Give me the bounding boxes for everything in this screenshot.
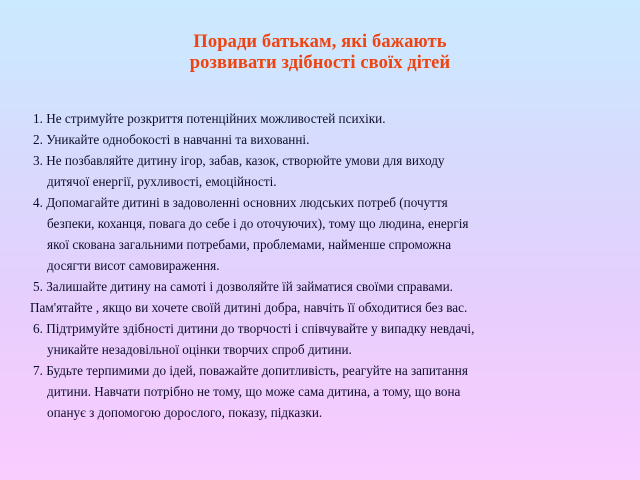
tip-continuation-line: дитини. Навчати потрібно не тому, що мож… bbox=[0, 381, 640, 402]
slide-title-line-2: розвивати здібності своїх дітей bbox=[0, 53, 640, 74]
tip-item-line: 4. Допомагайте дитині в задоволенні осно… bbox=[0, 192, 640, 213]
slide-title-line-1: Поради батькам, які бажають bbox=[0, 32, 640, 53]
tip-continuation-line: досягти висот самовираження. bbox=[0, 255, 640, 276]
tip-continuation-line: якої скована загальними потребами, пробл… bbox=[0, 234, 640, 255]
presentation-slide: Поради батькам, які бажають розвивати зд… bbox=[0, 0, 640, 480]
tip-item-line: 6. Підтримуйте здібності дитини до творч… bbox=[0, 318, 640, 339]
slide-title: Поради батькам, які бажають розвивати зд… bbox=[0, 32, 640, 74]
tip-item-line: 5. Залишайте дитину на самоті і дозволяй… bbox=[0, 276, 640, 297]
tip-item-line: 3. Не позбавляйте дитину ігор, забав, ка… bbox=[0, 150, 640, 171]
tip-continuation-line: уникайте незадовільної оцінки творчих сп… bbox=[0, 339, 640, 360]
tip-continuation-line: Пам'ятайте , якщо ви хочете своїй дитині… bbox=[0, 297, 640, 318]
tip-item-line: 2. Уникайте однобокості в навчанні та ви… bbox=[0, 129, 640, 150]
tip-continuation-line: опанує з допомогою дорослого, показу, пі… bbox=[0, 402, 640, 423]
tips-list: 1. Не стримуйте розкриття потенційних мо… bbox=[0, 108, 640, 423]
tip-item-line: 1. Не стримуйте розкриття потенційних мо… bbox=[0, 108, 640, 129]
tip-continuation-line: дитячої енергії, рухливості, емоційності… bbox=[0, 171, 640, 192]
tip-continuation-line: безпеки, коханця, повага до себе і до от… bbox=[0, 213, 640, 234]
tip-item-line: 7. Будьте терпимими до ідей, поважайте д… bbox=[0, 360, 640, 381]
